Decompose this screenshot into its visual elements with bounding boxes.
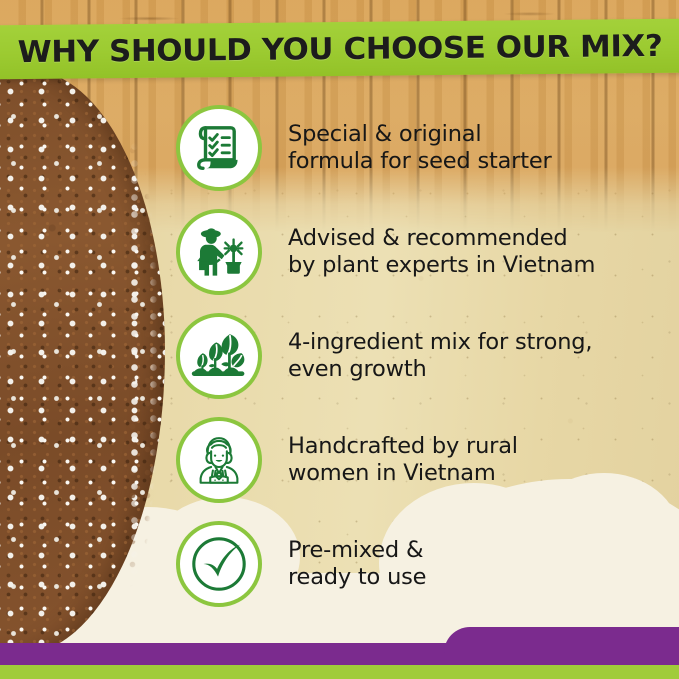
feature-text: 4-ingredient mix for strong, even growth xyxy=(288,329,592,384)
feature-icon-badge xyxy=(176,209,262,295)
feature-row: Pre-mixed & ready to use xyxy=(0,512,679,616)
product-feature-infographic: WHY SHOULD YOU CHOOSE OUR MIX? xyxy=(0,0,679,679)
feature-text: Advised & recommended by plant experts i… xyxy=(288,225,595,280)
sprouting-leaves-icon xyxy=(190,327,248,385)
feature-text: Special & original formula for seed star… xyxy=(288,121,552,176)
rural-woman-icon xyxy=(191,432,247,488)
feature-icon-badge xyxy=(176,313,262,399)
feature-row: Handcrafted by rural women in Vietnam xyxy=(0,408,679,512)
header-banner: WHY SHOULD YOU CHOOSE OUR MIX? xyxy=(0,19,679,80)
feature-icon-badge xyxy=(176,105,262,191)
bottom-green-bar xyxy=(0,665,679,679)
feature-text: Handcrafted by rural women in Vietnam xyxy=(288,433,518,488)
checklist-scroll-icon xyxy=(192,121,246,175)
feature-row: Special & original formula for seed star… xyxy=(0,96,679,200)
checkmark-circle-icon xyxy=(188,533,250,595)
feature-text: Pre-mixed & ready to use xyxy=(288,537,426,592)
feature-list: Special & original formula for seed star… xyxy=(0,96,679,616)
feature-icon-badge xyxy=(176,521,262,607)
bottom-purple-bar-step xyxy=(444,627,679,665)
feature-icon-badge xyxy=(176,417,262,503)
gardener-watering-plant-icon xyxy=(190,223,248,281)
feature-row: Advised & recommended by plant experts i… xyxy=(0,200,679,304)
feature-row: 4-ingredient mix for strong, even growth xyxy=(0,304,679,408)
banner-title: WHY SHOULD YOU CHOOSE OUR MIX? xyxy=(17,28,662,69)
